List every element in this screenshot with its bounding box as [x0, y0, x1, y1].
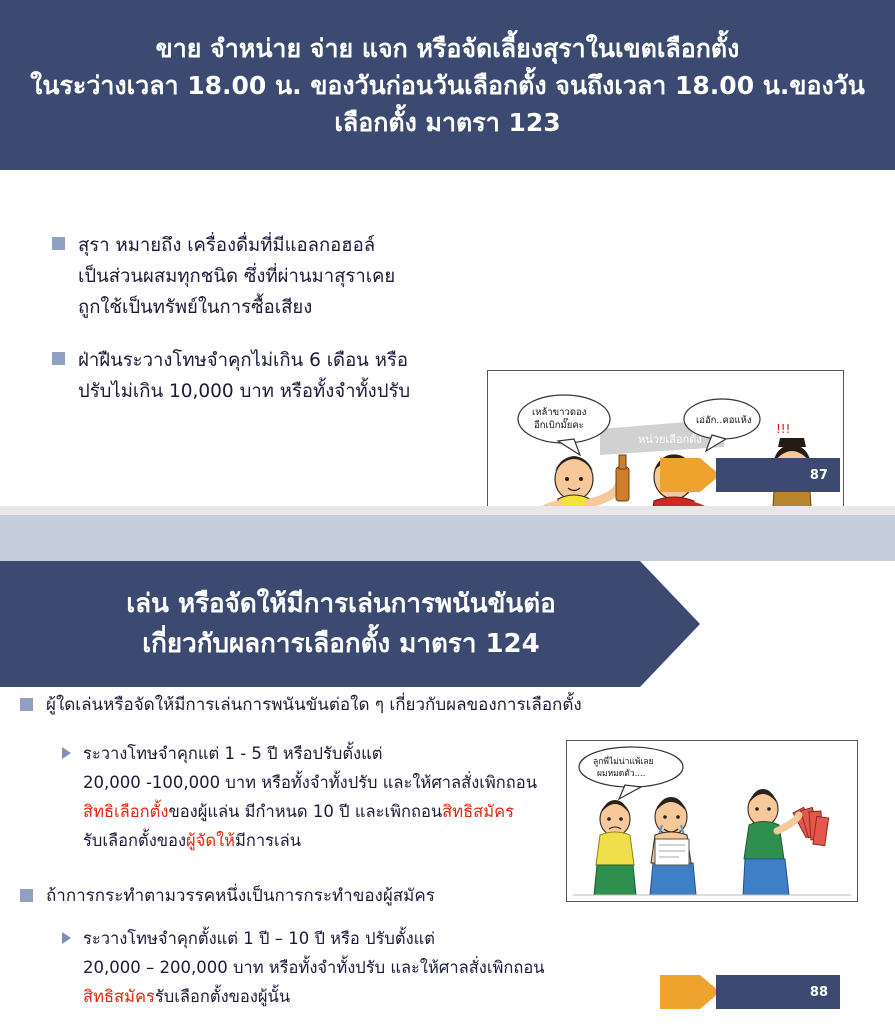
- svg-text:อีกเบิกมั๊ยคะ: อีกเบิกมั๊ยคะ: [534, 417, 584, 431]
- sub2-line-2: 20,000 – 200,000 บาท หรือทั้งจำทั้งปรับ …: [83, 953, 545, 982]
- slide-88-title-line-2: เกี่ยวกับผลการเลือกตั้ง มาตรา 124: [142, 624, 540, 664]
- bullet-2-line-1: ฝ่าฝืนระวางโทษจำคุกไม่เกิน 6 เดือน หรือ: [78, 345, 410, 376]
- slide-88-banner-side: [700, 561, 895, 687]
- slide-87-bullet-2-text: ฝ่าฝืนระวางโทษจำคุกไม่เกิน 6 เดือน หรือ …: [78, 345, 410, 407]
- gambling-election-cartoon: ลูกพี่ไม่น่าแพ้เลย ผมหมดตัว....: [566, 740, 858, 902]
- sub1-line-3-rest: ของผู้แล่น มีกำหนด 10 ปี และเพิกถอน: [168, 802, 442, 821]
- bullet-1-line-3: ถูกใช้เป็นทรัพย์ในการซื้อเสียง: [78, 292, 395, 323]
- slide-88-title-banner: เล่น หรือจัดให้มีการเล่นการพนันขันต่อ เก…: [0, 561, 700, 687]
- svg-text:หน่วยเลือกตั้ง: หน่วยเลือกตั้ง: [638, 431, 702, 446]
- slide-88-bullet-1-text: ผู้ใดเล่นหรือจัดให้มีการเล่นการพนันขันต่…: [46, 691, 582, 719]
- orange-arrow-icon: [660, 458, 720, 492]
- slide-88-subbullet-1: ระวางโทษจำคุกแต่ 1 - 5 ปี หรือปรับตั้งแต…: [62, 739, 622, 855]
- sub1-line-1: ระวางโทษจำคุกแต่ 1 - 5 ปี หรือปรับตั้งแต…: [83, 739, 537, 768]
- sub1-line-4-a: รับเลือกตั้งของ: [83, 831, 186, 850]
- sub1-line-4-b: มีการเล่น: [235, 831, 301, 850]
- sub2-line-3: สิทธิสมัครรับเลือกตั้งของผู้นั้น: [83, 982, 545, 1011]
- sub1-red-2: สิทธิสมัคร: [442, 802, 514, 821]
- slide-88-top-band: [0, 515, 895, 561]
- slide-deck: ขาย จำหน่าย จ่าย แจก หรือจัดเลี้ยงสุราใน…: [0, 0, 895, 1024]
- slide-87-title-banner: ขาย จำหน่าย จ่าย แจก หรือจัดเลี้ยงสุราใน…: [0, 0, 895, 170]
- bullet-1-line-2: เป็นส่วนผสมทุกชนิด ซึ่งที่ผ่านมาสุราเคย: [78, 261, 395, 292]
- svg-text:เอ่อัก..คอแห้ง: เอ่อัก..คอแห้ง: [696, 415, 752, 426]
- square-bullet-icon: [52, 352, 65, 365]
- slide-88-page-number: 88: [716, 975, 840, 1009]
- svg-text:เหล้าขาวดอง: เหล้าขาวดอง: [532, 407, 586, 418]
- square-bullet-icon: [52, 237, 65, 250]
- square-bullet-icon: [20, 698, 33, 711]
- slide-87: ขาย จำหน่าย จ่าย แจก หรือจัดเลี้ยงสุราใน…: [0, 0, 895, 506]
- slide-88-subbullet-1-text: ระวางโทษจำคุกแต่ 1 - 5 ปี หรือปรับตั้งแต…: [83, 739, 537, 855]
- svg-text:!!!: !!!: [776, 422, 790, 436]
- sub1-line-3: สิทธิเลือกตั้งของผู้แล่น มีกำหนด 10 ปี แ…: [83, 797, 537, 826]
- sub1-line-4: รับเลือกตั้งของผู้จัดให้มีการเล่น: [83, 826, 537, 855]
- slide-separator: [0, 506, 895, 515]
- slide-87-body: สุรา หมายถึง เครื่องดื่มที่มีแอลกอฮอล์ เ…: [0, 170, 895, 506]
- slide-88-page-tag: 88: [660, 975, 895, 1009]
- svg-text:ลูกพี่ไม่น่าแพ้เลย: ลูกพี่ไม่น่าแพ้เลย: [593, 755, 654, 767]
- slide-87-page-number: 87: [716, 458, 840, 492]
- sub2-red-1: สิทธิสมัคร: [83, 987, 155, 1006]
- bullet-1-line-1: สุรา หมายถึง เครื่องดื่มที่มีแอลกอฮอล์: [78, 230, 395, 261]
- slide-88-subbullet-2-text: ระวางโทษจำคุกตั้งแต่ 1 ปี – 10 ปี หรือ ป…: [83, 924, 545, 1011]
- bullet-2-line-2: ปรับไม่เกิน 10,000 บาท หรือทั้งจำทั้งปรั…: [78, 376, 410, 407]
- slide-87-bullet-1: สุรา หมายถึง เครื่องดื่มที่มีแอลกอฮอล์ เ…: [52, 230, 412, 323]
- square-bullet-icon: [20, 889, 33, 902]
- slide-87-title-line-3: เลือกตั้ง มาตรา 123: [334, 104, 560, 141]
- slide-88: เล่น หรือจัดให้มีการเล่นการพนันขันต่อ เก…: [0, 515, 895, 1024]
- slide-88-bullet-2-text: ถ้าการกระทำตามวรรคหนึ่งเป็นการกระทำของผู…: [46, 882, 435, 910]
- slide-87-bullet-2: ฝ่าฝืนระวางโทษจำคุกไม่เกิน 6 เดือน หรือ …: [52, 345, 412, 407]
- slide-88-title-line-1: เล่น หรือจัดให้มีการเล่นการพนันขันต่อ: [126, 584, 555, 624]
- sub2-line-3-rest: รับเลือกตั้งของผู้นั้น: [155, 987, 290, 1006]
- sub1-line-2: 20,000 -100,000 บาท หรือทั้งจำทั้งปรับ แ…: [83, 768, 537, 797]
- triangle-bullet-icon: [62, 932, 71, 944]
- triangle-bullet-icon: [62, 747, 71, 759]
- sub1-red-3: ผู้จัดให้: [186, 831, 235, 850]
- slide-87-bullet-1-text: สุรา หมายถึง เครื่องดื่มที่มีแอลกอฮอล์ เ…: [78, 230, 395, 323]
- cartoon-2-svg: ลูกพี่ไม่น่าแพ้เลย ผมหมดตัว....: [567, 741, 857, 901]
- slide-88-subbullet-2: ระวางโทษจำคุกตั้งแต่ 1 ปี – 10 ปี หรือ ป…: [62, 924, 622, 1011]
- slide-87-title-line-1: ขาย จำหน่าย จ่าย แจก หรือจัดเลี้ยงสุราใน…: [156, 30, 740, 67]
- slide-87-title-line-2: ในระว่างเวลา 18.00 น. ของวันก่อนวันเลือก…: [30, 67, 865, 104]
- slide-87-page-tag: 87: [660, 458, 895, 492]
- svg-text:ผมหมดตัว....: ผมหมดตัว....: [597, 769, 645, 779]
- sub1-red-1: สิทธิเลือกตั้ง: [83, 802, 168, 821]
- orange-arrow-icon: [660, 975, 720, 1009]
- sub2-line-1: ระวางโทษจำคุกตั้งแต่ 1 ปี – 10 ปี หรือ ป…: [83, 924, 545, 953]
- slide-88-bullet-1: ผู้ใดเล่นหรือจัดให้มีการเล่นการพนันขันต่…: [20, 691, 720, 719]
